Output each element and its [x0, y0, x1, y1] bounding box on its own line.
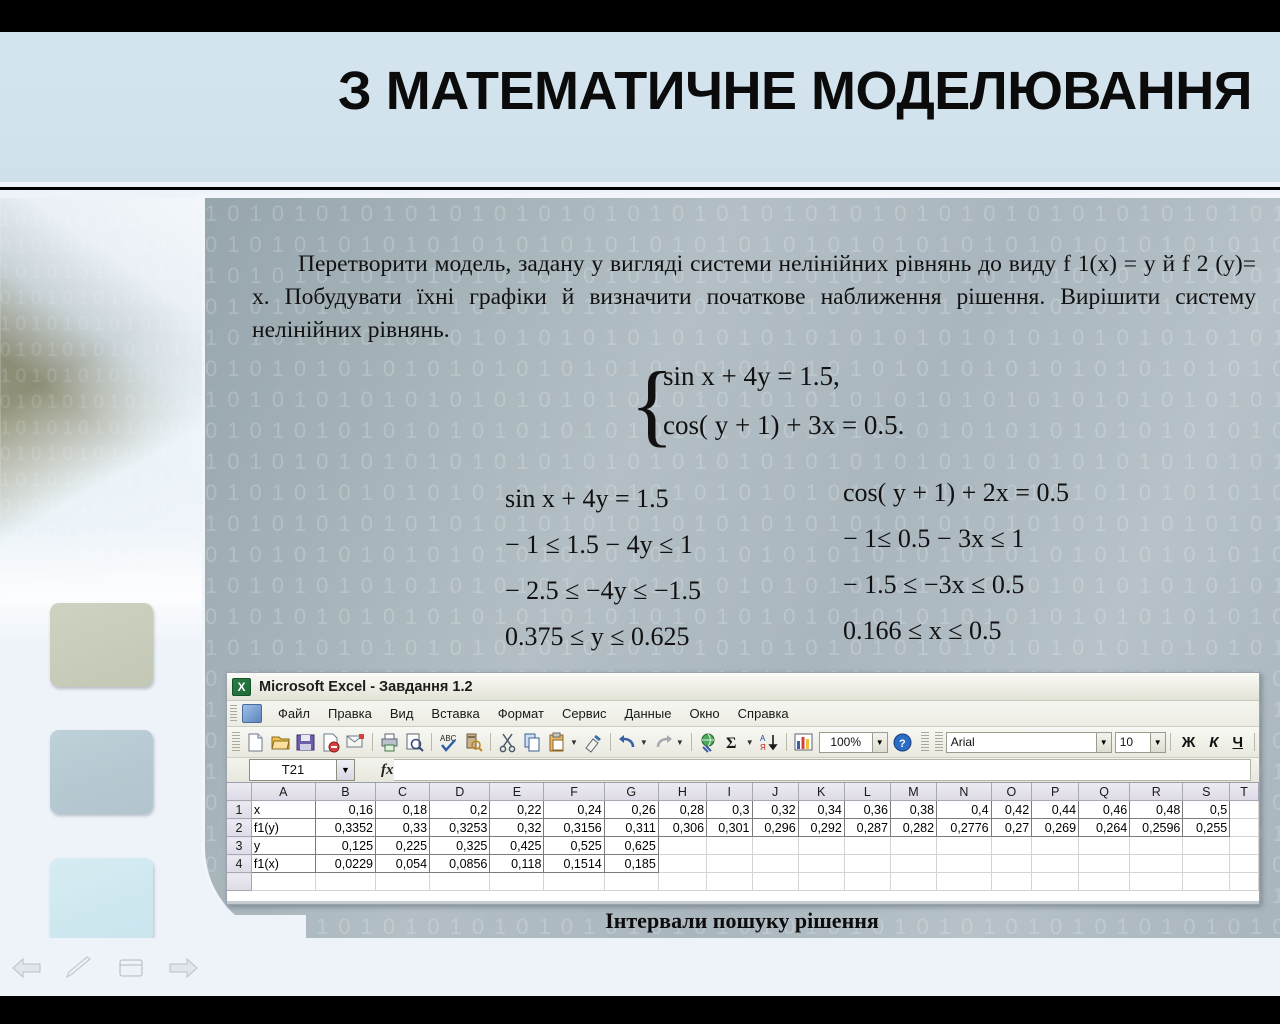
cell-L2[interactable]: 0,287 — [844, 819, 890, 837]
underline-button[interactable]: Ч — [1225, 734, 1250, 751]
cell-O4[interactable] — [991, 855, 1032, 873]
toolbar-overflow-handle[interactable] — [921, 732, 929, 752]
column-header-E[interactable]: E — [490, 783, 544, 801]
cell-A2[interactable]: f1(y) — [251, 819, 315, 837]
cell-R5[interactable] — [1130, 873, 1183, 891]
cell-N5[interactable] — [937, 873, 992, 891]
toolbar-separator — [610, 733, 611, 751]
cell-S3[interactable] — [1183, 837, 1230, 855]
cell-G1[interactable]: 0,26 — [604, 801, 658, 819]
cell-L1[interactable]: 0,36 — [844, 801, 890, 819]
derivation-left-line-1: sin x + 4y = 1.5 — [505, 476, 701, 522]
cell-B2[interactable]: 0,3352 — [315, 819, 375, 837]
row-header-1[interactable]: 1 — [227, 801, 251, 819]
permission-icon[interactable] — [320, 732, 341, 753]
cell-G3[interactable]: 0,625 — [604, 837, 658, 855]
excel-window-footer — [227, 901, 1259, 905]
body-paragraph-text: Перетворити модель, задану у вигляді сис… — [252, 251, 1256, 343]
cell-D2[interactable]: 0,3253 — [430, 819, 490, 837]
excel-logo-icon: X — [232, 678, 251, 696]
cell-S5[interactable] — [1183, 873, 1230, 891]
cell-J2[interactable]: 0,296 — [752, 819, 798, 837]
copy-icon[interactable] — [522, 732, 543, 753]
autosum-dropdown-arrow[interactable]: ▼ — [746, 738, 754, 747]
excel-document-icon — [242, 704, 262, 723]
svg-text:A: A — [760, 734, 766, 743]
cell-P3[interactable] — [1032, 837, 1079, 855]
cell-E4[interactable]: 0,118 — [490, 855, 544, 873]
spellcheck-icon[interactable]: ABC — [438, 732, 459, 753]
chart-wizard-icon[interactable] — [793, 732, 814, 753]
cell-J4[interactable] — [752, 855, 798, 873]
cell-L3[interactable] — [844, 837, 890, 855]
row-header-5[interactable] — [227, 873, 251, 891]
slide-window-icon[interactable] — [114, 955, 148, 981]
top-letterbox-bar — [0, 0, 1280, 32]
toolbar-separator — [372, 733, 373, 751]
derivation-right-column: cos( y + 1) + 2x = 0.5 − 1≤ 0.5 − 3x ≤ 1… — [843, 470, 1069, 654]
redo-icon[interactable] — [653, 732, 674, 753]
derivation-left-column: sin x + 4y = 1.5 − 1 ≤ 1.5 − 4y ≤ 1 − 2.… — [505, 476, 701, 660]
derivation-left-line-4: 0.375 ≤ y ≤ 0.625 — [505, 614, 701, 660]
cell-D4[interactable]: 0,0856 — [430, 855, 490, 873]
cell-S4[interactable] — [1183, 855, 1230, 873]
font-name-input[interactable]: Arial — [946, 732, 1097, 753]
svg-text:Я: Я — [760, 743, 766, 752]
cell-R3[interactable] — [1130, 837, 1183, 855]
table-row[interactable]: 1 x 0,16 0,18 0,2 0,22 0,24 0,26 0,28 0,… — [227, 801, 1259, 819]
column-header-row: A B C D E F G H I J K L M N O — [227, 783, 1259, 801]
cell-A4[interactable]: f1(x) — [251, 855, 315, 873]
excel-window: X Microsoft Excel - Завдання 1.2 Файл Пр… — [226, 672, 1260, 905]
page-title: З МАТЕМАТИЧНЕ МОДЕЛЮВАННЯ — [0, 60, 1252, 122]
print-icon[interactable] — [379, 732, 400, 753]
column-header-S[interactable]: S — [1183, 783, 1230, 801]
worksheet-table: A B C D E F G H I J K L M N O — [227, 783, 1259, 891]
column-header-Q[interactable]: Q — [1079, 783, 1130, 801]
cell-I3[interactable] — [707, 837, 752, 855]
slideshow-navigation — [10, 955, 200, 981]
paste-dropdown-arrow[interactable]: ▼ — [570, 738, 578, 747]
cell-I1[interactable]: 0,3 — [707, 801, 752, 819]
excel-menu-bar: Файл Правка Вид Вставка Формат Сервис Да… — [227, 701, 1259, 727]
cell-R4[interactable] — [1130, 855, 1183, 873]
cell-T3[interactable] — [1230, 837, 1259, 855]
font-size-input[interactable]: 10 — [1115, 732, 1151, 753]
cell-K3[interactable] — [798, 837, 844, 855]
column-header-G[interactable]: G — [604, 783, 658, 801]
table-row[interactable]: 2 f1(y) 0,3352 0,33 0,3253 0,32 0,3156 0… — [227, 819, 1259, 837]
cell-A3[interactable]: y — [251, 837, 315, 855]
cell-C1[interactable]: 0,18 — [376, 801, 430, 819]
cell-P4[interactable] — [1032, 855, 1079, 873]
cell-S2[interactable]: 0,255 — [1183, 819, 1230, 837]
cell-F2[interactable]: 0,3156 — [544, 819, 604, 837]
derivation-right-line-3: − 1.5 ≤ −3x ≤ 0.5 — [843, 562, 1069, 608]
undo-icon[interactable] — [617, 732, 638, 753]
select-all-corner[interactable] — [227, 783, 251, 801]
help-icon[interactable]: ? — [892, 732, 913, 753]
excel-worksheet-grid[interactable]: A B C D E F G H I J K L M N O — [227, 783, 1259, 901]
cell-A1[interactable]: x — [251, 801, 315, 819]
row-header-4[interactable]: 4 — [227, 855, 251, 873]
toolbar-separator — [786, 733, 787, 751]
save-icon[interactable] — [295, 732, 316, 753]
excel-formula-bar: T21 ▼ fx — [227, 758, 1259, 783]
cut-icon[interactable] — [497, 732, 518, 753]
cell-E5[interactable] — [490, 873, 544, 891]
decorative-photo: 1010101010101010010101010101010110101010… — [0, 198, 205, 603]
cell-M1[interactable]: 0,38 — [890, 801, 936, 819]
cell-D5[interactable] — [430, 873, 490, 891]
cell-N4[interactable] — [937, 855, 992, 873]
excel-standard-toolbar: ABC ▼ ▼ — [227, 727, 1259, 758]
cell-D1[interactable]: 0,2 — [430, 801, 490, 819]
cell-Q3[interactable] — [1079, 837, 1130, 855]
system-equation-2: cos( y + 1) + 3x = 0.5. — [663, 410, 904, 441]
cell-O3[interactable] — [991, 837, 1032, 855]
back-arrow-icon[interactable] — [10, 955, 44, 981]
row-header-3[interactable]: 3 — [227, 837, 251, 855]
cell-T5[interactable] — [1230, 873, 1259, 891]
cell-K4[interactable] — [798, 855, 844, 873]
cell-S1[interactable]: 0,5 — [1183, 801, 1230, 819]
toolbar-separator — [490, 733, 491, 751]
derivation-right-line-2: − 1≤ 0.5 − 3x ≤ 1 — [843, 516, 1069, 562]
cell-K2[interactable]: 0,292 — [798, 819, 844, 837]
menu-item-insert[interactable]: Вставка — [422, 706, 488, 721]
table-row[interactable] — [227, 873, 1259, 891]
cell-F5[interactable] — [544, 873, 604, 891]
cell-H4[interactable] — [658, 855, 706, 873]
paste-icon[interactable] — [547, 732, 568, 753]
name-box[interactable]: T21 — [249, 759, 337, 781]
column-header-K[interactable]: K — [798, 783, 844, 801]
toolbar-grip-handle[interactable] — [232, 732, 240, 752]
cell-N2[interactable]: 0,2776 — [937, 819, 992, 837]
column-header-J[interactable]: J — [752, 783, 798, 801]
column-header-A[interactable]: A — [251, 783, 315, 801]
column-header-P[interactable]: P — [1032, 783, 1079, 801]
row-header-2[interactable]: 2 — [227, 819, 251, 837]
cell-N3[interactable] — [937, 837, 992, 855]
cell-H2[interactable]: 0,306 — [658, 819, 706, 837]
redo-dropdown-arrow[interactable]: ▼ — [676, 738, 684, 747]
cell-E1[interactable]: 0,22 — [490, 801, 544, 819]
sort-ascending-icon[interactable]: AЯ — [759, 732, 780, 753]
cell-C5[interactable] — [376, 873, 430, 891]
cell-D3[interactable]: 0,325 — [430, 837, 490, 855]
column-header-I[interactable]: I — [707, 783, 752, 801]
column-header-O[interactable]: O — [991, 783, 1032, 801]
column-header-F[interactable]: F — [544, 783, 604, 801]
bottom-letterbox-bar — [0, 996, 1280, 1024]
hyperlink-icon[interactable] — [698, 732, 719, 753]
font-size-dropdown-arrow[interactable]: ▼ — [1151, 732, 1166, 753]
cell-R1[interactable]: 0,48 — [1130, 801, 1183, 819]
menu-item-view[interactable]: Вид — [381, 706, 423, 721]
cell-M2[interactable]: 0,282 — [890, 819, 936, 837]
column-header-N[interactable]: N — [937, 783, 992, 801]
cell-B4[interactable]: 0,0229 — [315, 855, 375, 873]
menu-item-edit[interactable]: Правка — [319, 706, 381, 721]
derivation-left-line-3: − 2.5 ≤ −4y ≤ −1.5 — [505, 568, 701, 614]
column-header-B[interactable]: B — [315, 783, 375, 801]
cell-B3[interactable]: 0,125 — [315, 837, 375, 855]
insert-function-icon[interactable]: fx — [381, 762, 394, 779]
cell-F3[interactable]: 0,525 — [544, 837, 604, 855]
column-header-M[interactable]: M — [890, 783, 936, 801]
cell-M5[interactable] — [890, 873, 936, 891]
cell-F1[interactable]: 0,24 — [544, 801, 604, 819]
menu-item-window[interactable]: Окно — [680, 706, 728, 721]
table-row[interactable]: 3 y 0,125 0,225 0,325 0,425 0,525 0,625 — [227, 837, 1259, 855]
cell-B5[interactable] — [315, 873, 375, 891]
cell-G2[interactable]: 0,311 — [604, 819, 658, 837]
cell-P1[interactable]: 0,44 — [1032, 801, 1079, 819]
toolbar-separator — [1254, 733, 1255, 751]
open-folder-icon[interactable] — [270, 732, 291, 753]
cell-T4[interactable] — [1230, 855, 1259, 873]
cell-N1[interactable]: 0,4 — [937, 801, 992, 819]
cell-J1[interactable]: 0,32 — [752, 801, 798, 819]
column-header-H[interactable]: H — [658, 783, 706, 801]
system-equation-1: sin x + 4y = 1.5, — [663, 361, 840, 392]
column-header-L[interactable]: L — [844, 783, 890, 801]
menu-item-tools[interactable]: Сервис — [553, 706, 616, 721]
cell-O1[interactable]: 0,42 — [991, 801, 1032, 819]
format-painter-icon[interactable] — [583, 732, 604, 753]
cell-T1[interactable] — [1230, 801, 1259, 819]
column-header-C[interactable]: C — [376, 783, 430, 801]
equation-system: { sin x + 4y = 1.5, cos( y + 1) + 3x = 0… — [630, 358, 1050, 453]
cell-I2[interactable]: 0,301 — [707, 819, 752, 837]
cell-O5[interactable] — [991, 873, 1032, 891]
formatting-toolbar-grip[interactable] — [935, 732, 943, 752]
cell-L5[interactable] — [844, 873, 890, 891]
column-header-D[interactable]: D — [430, 783, 490, 801]
cell-C2[interactable]: 0,33 — [376, 819, 430, 837]
cell-O2[interactable]: 0,27 — [991, 819, 1032, 837]
figure-caption: Інтервали пошуку рішення — [226, 908, 1258, 934]
menu-item-help[interactable]: Справка — [729, 706, 798, 721]
new-document-icon[interactable] — [245, 732, 266, 753]
derivation-right-line-4: 0.166 ≤ x ≤ 0.5 — [843, 608, 1069, 654]
cell-Q4[interactable] — [1079, 855, 1130, 873]
cell-G5[interactable] — [604, 873, 658, 891]
svg-text:Σ: Σ — [726, 735, 736, 752]
cell-J3[interactable] — [752, 837, 798, 855]
cell-Q5[interactable] — [1079, 873, 1130, 891]
toolbar-separator — [431, 733, 432, 751]
cell-H1[interactable]: 0,28 — [658, 801, 706, 819]
color-swatch-1 — [50, 603, 153, 687]
cell-M3[interactable] — [890, 837, 936, 855]
excel-title-bar: X Microsoft Excel - Завдання 1.2 — [227, 673, 1259, 701]
cell-P5[interactable] — [1032, 873, 1079, 891]
cell-I5[interactable] — [707, 873, 752, 891]
body-paragraph: Перетворити модель, задану у вигляді сис… — [252, 248, 1256, 347]
email-icon[interactable] — [345, 732, 366, 753]
menu-grip-handle[interactable] — [230, 705, 237, 723]
forward-arrow-icon[interactable] — [166, 955, 200, 981]
zoom-input[interactable]: 100% — [819, 732, 873, 753]
cell-P2[interactable]: 0,269 — [1032, 819, 1079, 837]
cell-C4[interactable]: 0,054 — [376, 855, 430, 873]
column-header-R[interactable]: R — [1130, 783, 1183, 801]
cell-H5[interactable] — [658, 873, 706, 891]
derivation-left-line-2: − 1 ≤ 1.5 − 4y ≤ 1 — [505, 522, 701, 568]
excel-window-title: Microsoft Excel - Завдання 1.2 — [259, 679, 473, 695]
toolbar-separator — [691, 733, 692, 751]
cell-C3[interactable]: 0,225 — [376, 837, 430, 855]
zoom-dropdown-arrow[interactable]: ▼ — [873, 732, 888, 753]
svg-text:?: ? — [899, 738, 906, 750]
column-header-T[interactable]: T — [1230, 783, 1259, 801]
research-icon[interactable] — [463, 732, 484, 753]
bold-button[interactable]: Ж — [1175, 734, 1203, 751]
print-preview-icon[interactable] — [404, 732, 425, 753]
cell-T2[interactable] — [1230, 819, 1259, 837]
cell-R2[interactable]: 0,2596 — [1130, 819, 1183, 837]
cell-J5[interactable] — [752, 873, 798, 891]
menu-item-data[interactable]: Данные — [615, 706, 680, 721]
cell-I4[interactable] — [707, 855, 752, 873]
menu-item-file[interactable]: Файл — [269, 706, 319, 721]
cell-H3[interactable] — [658, 837, 706, 855]
cell-A5[interactable] — [251, 873, 315, 891]
name-box-dropdown-arrow[interactable]: ▼ — [337, 759, 355, 781]
cell-G4[interactable]: 0,185 — [604, 855, 658, 873]
undo-dropdown-arrow[interactable]: ▼ — [640, 738, 648, 747]
derivation-right-line-1: cos( y + 1) + 2x = 0.5 — [843, 470, 1069, 516]
italic-button[interactable]: К — [1202, 734, 1225, 751]
color-swatch-3 — [50, 858, 153, 942]
cell-F4[interactable]: 0,1514 — [544, 855, 604, 873]
cell-M4[interactable] — [890, 855, 936, 873]
cell-K5[interactable] — [798, 873, 844, 891]
cell-E3[interactable]: 0,425 — [490, 837, 544, 855]
cell-E2[interactable]: 0,32 — [490, 819, 544, 837]
formula-input[interactable] — [394, 759, 1252, 781]
title-divider — [0, 182, 1280, 187]
cell-Q2[interactable]: 0,264 — [1079, 819, 1130, 837]
toolbar-separator — [1170, 733, 1171, 751]
autosum-icon[interactable]: Σ — [723, 732, 744, 753]
presentation-slide: З МАТЕМАТИЧНЕ МОДЕЛЮВАННЯ 10101010101010… — [0, 0, 1280, 1024]
pen-icon[interactable] — [62, 955, 96, 981]
cell-K1[interactable]: 0,34 — [798, 801, 844, 819]
font-name-dropdown-arrow[interactable]: ▼ — [1097, 732, 1112, 753]
menu-item-format[interactable]: Формат — [489, 706, 553, 721]
cell-L4[interactable] — [844, 855, 890, 873]
cell-Q1[interactable]: 0,46 — [1079, 801, 1130, 819]
color-swatch-2 — [50, 730, 153, 814]
table-row[interactable]: 4 f1(x) 0,0229 0,054 0,0856 0,118 0,1514… — [227, 855, 1259, 873]
cell-B1[interactable]: 0,16 — [315, 801, 375, 819]
